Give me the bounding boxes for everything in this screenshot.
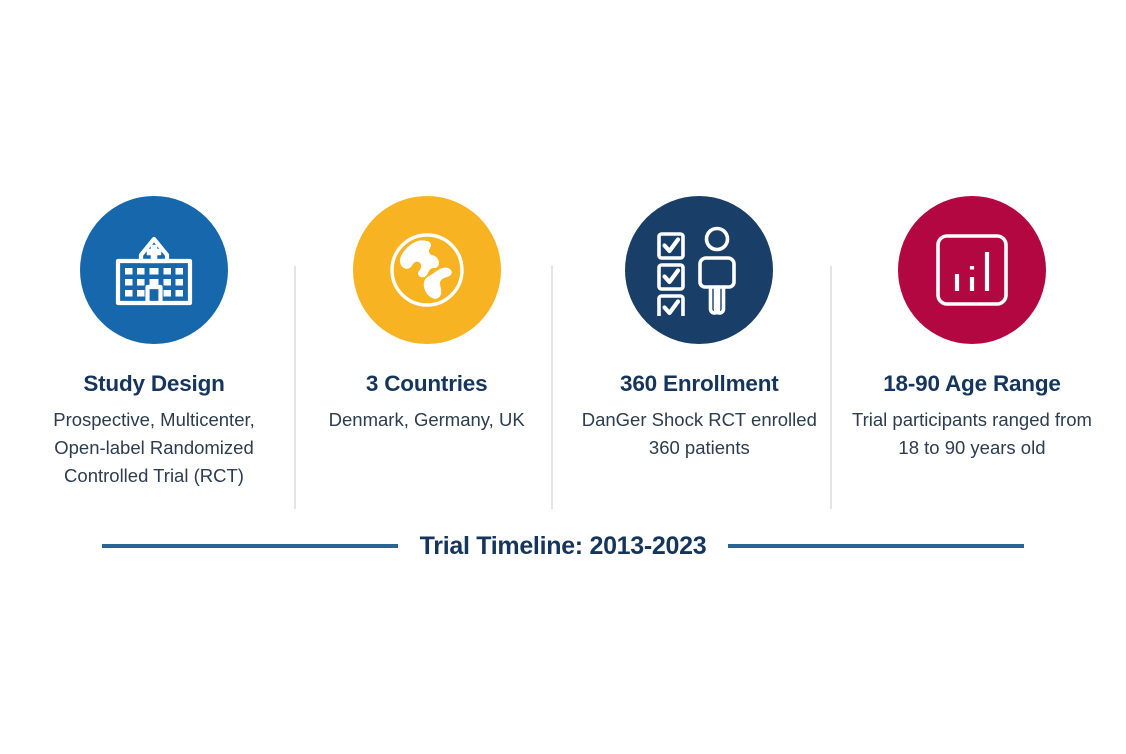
stat-description: Denmark, Germany, UK bbox=[329, 406, 525, 434]
globe-icon bbox=[382, 225, 472, 315]
stat-description: DanGer Shock RCT enrolled 360 patients bbox=[574, 406, 824, 462]
stat-heading: 3 Countries bbox=[366, 370, 488, 397]
stat-heading: 360 Enrollment bbox=[620, 370, 779, 397]
timeline-rule-left bbox=[102, 544, 398, 548]
stat-heading: Study Design bbox=[83, 370, 224, 397]
stat-column-enrollment: 360 Enrollment DanGer Shock RCT enrolled… bbox=[563, 196, 835, 462]
stat-description: Trial participants ranged from 18 to 90 … bbox=[847, 406, 1097, 462]
stat-columns: Study Design Prospective, Multicenter, O… bbox=[18, 196, 1108, 516]
checklist-person-icon bbox=[651, 224, 747, 316]
bar-chart-icon-circle bbox=[898, 196, 1046, 344]
timeline-label: Trial Timeline: 2013-2023 bbox=[420, 532, 707, 561]
bar-chart-icon bbox=[933, 231, 1011, 309]
hospital-icon bbox=[108, 227, 200, 313]
hospital-icon-circle bbox=[80, 196, 228, 344]
checklist-person-icon-circle bbox=[625, 196, 773, 344]
globe-icon-circle bbox=[353, 196, 501, 344]
infographic-canvas: Study Design Prospective, Multicenter, O… bbox=[0, 0, 1126, 754]
stat-column-age-range: 18-90 Age Range Trial participants range… bbox=[836, 196, 1108, 462]
timeline-rule-right bbox=[728, 544, 1024, 548]
trial-timeline: Trial Timeline: 2013-2023 bbox=[70, 525, 1056, 567]
stat-column-countries: 3 Countries Denmark, Germany, UK bbox=[291, 196, 563, 434]
stat-description: Prospective, Multicenter, Open-label Ran… bbox=[29, 406, 279, 490]
stat-column-study-design: Study Design Prospective, Multicenter, O… bbox=[18, 196, 290, 490]
stat-heading: 18-90 Age Range bbox=[883, 370, 1060, 397]
